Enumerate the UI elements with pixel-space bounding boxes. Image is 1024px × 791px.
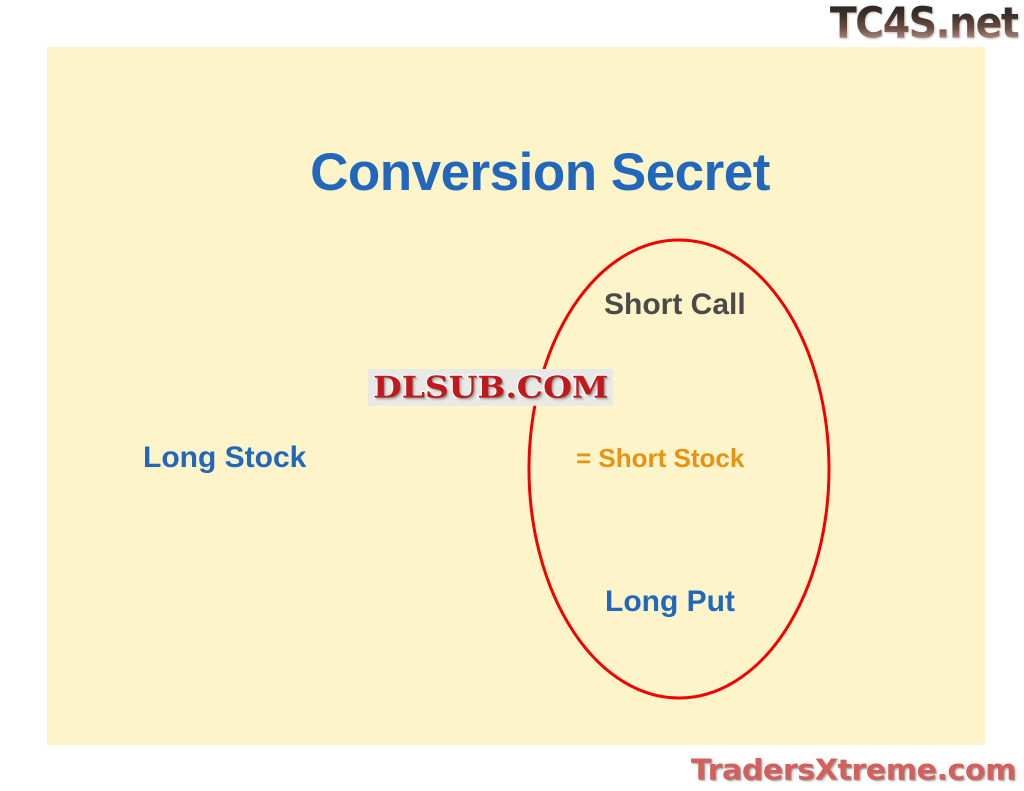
page-title: Conversion Secret xyxy=(260,145,820,201)
leg-label-short-call: Short Call xyxy=(604,290,746,320)
watermark-dlsub: DLSUB.COM xyxy=(368,369,613,406)
slide-canvas: Conversion Secret Long Stock Short Call … xyxy=(47,47,985,745)
leg-label-long-put: Long Put xyxy=(605,587,735,617)
equivalence-label-short-stock: = Short Stock xyxy=(576,445,744,471)
slide-root: Conversion Secret Long Stock Short Call … xyxy=(0,0,1024,791)
watermark-tc4s-logo: TC4S.net xyxy=(830,2,1018,45)
watermark-tradersxtreme-logo: TradersXtreme.com xyxy=(691,757,1016,786)
leg-label-long-stock: Long Stock xyxy=(143,443,306,473)
